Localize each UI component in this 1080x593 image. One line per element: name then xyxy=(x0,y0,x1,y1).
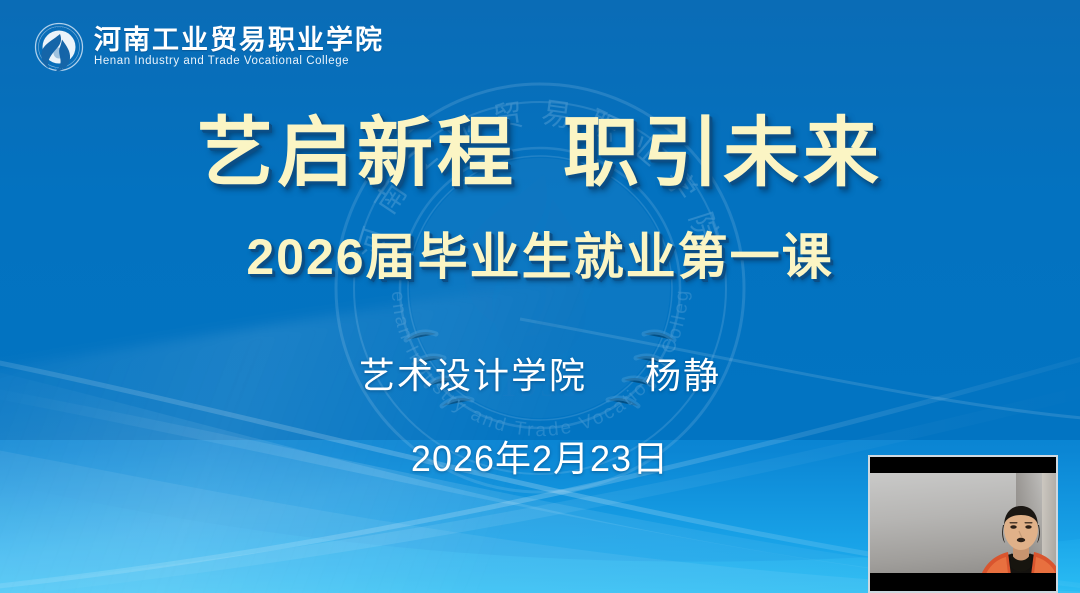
presenter-line: 艺术设计学院杨静 xyxy=(0,358,1080,394)
main-title-part1: 艺启新程 xyxy=(197,111,517,196)
college-logo-icon: · · · · · · · · · · xyxy=(34,22,84,72)
brand-name-en: Henan Industry and Trade Vocational Coll… xyxy=(94,55,384,68)
presenter-webcam-panel[interactable] xyxy=(868,455,1058,593)
slide-subtitle: 2026届毕业生就业第一课 xyxy=(0,232,1080,282)
main-title-part2: 职引未来 xyxy=(563,111,883,196)
webcam-video-frame xyxy=(870,457,1056,591)
presenter-department: 艺术设计学院 xyxy=(359,355,587,396)
svg-text:· · · ·: · · · · xyxy=(55,67,63,71)
slide-main-title: 艺启新程职引未来 xyxy=(0,116,1080,192)
brand-name-cn: 河南工业贸易职业学院 xyxy=(94,26,384,54)
presenter-name: 杨静 xyxy=(645,355,721,396)
webcam-letterbox-bottom xyxy=(870,573,1056,591)
presentation-slide: 1956 河南工业贸易职业学院 Henan Industry and Trade… xyxy=(0,0,1080,593)
svg-text:· · · · · ·: · · · · · · xyxy=(53,26,65,30)
brand-text-block: 河南工业贸易职业学院 Henan Industry and Trade Voca… xyxy=(94,26,384,68)
college-brand-header: · · · · · · · · · · 河南工业贸易职业学院 Henan Ind… xyxy=(34,22,384,72)
webcam-letterbox-top xyxy=(870,457,1056,473)
